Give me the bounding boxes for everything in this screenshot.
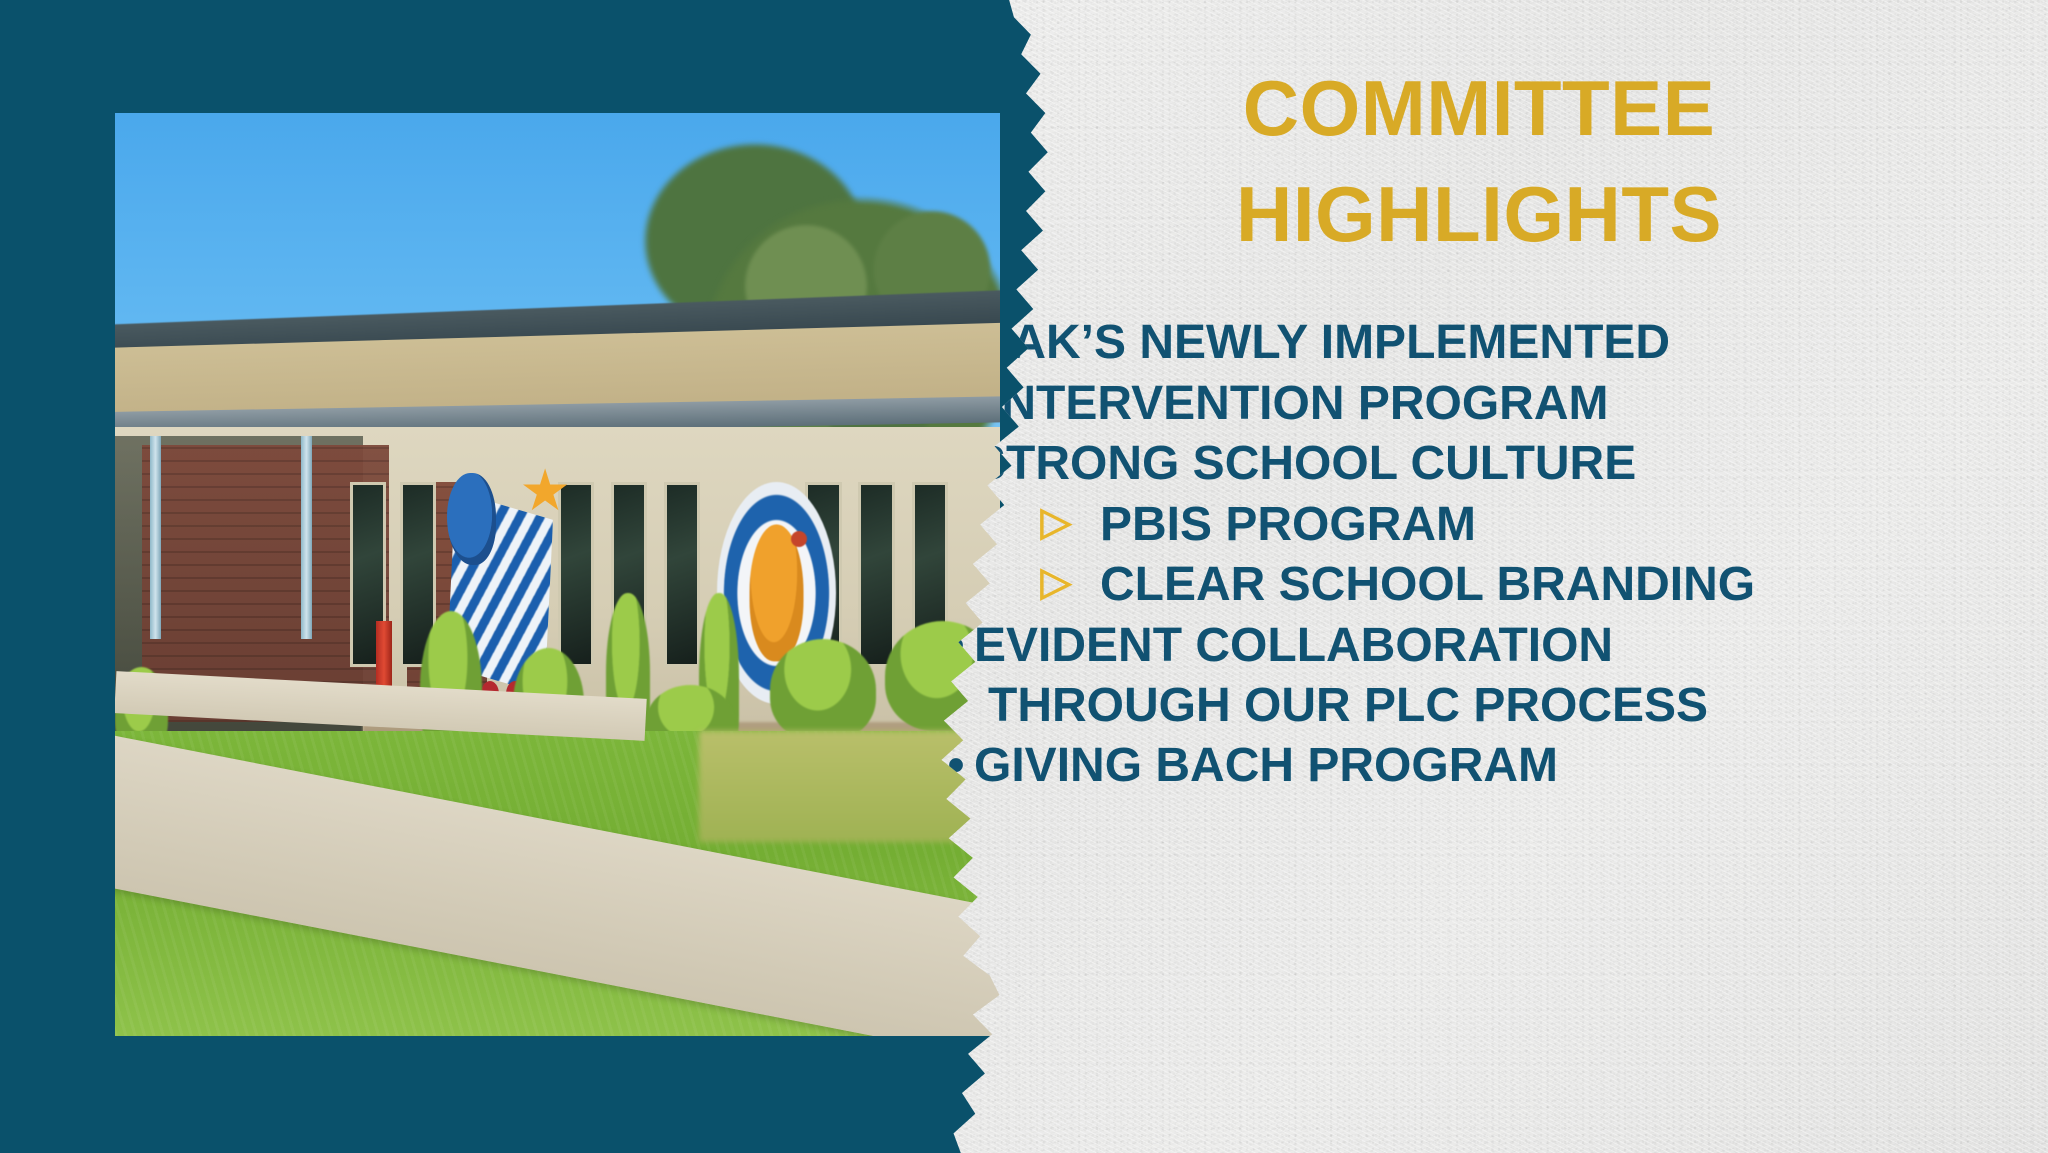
list-item-text: GIVING BACH PROGRAM	[974, 736, 1558, 796]
list-item-text: STRONG SCHOOL CULTURE	[974, 434, 1636, 494]
porch-post	[150, 436, 161, 639]
triangle-bullet-icon: ▷	[1030, 555, 1082, 610]
list-item-text: OAK’S NEWLY IMPLEMENTED INTERVENTION PRO…	[974, 313, 1670, 434]
presentation-slide: COMMITTEE HIGHLIGHTS • OAK’S NEWLY IMPLE…	[0, 0, 2048, 1153]
sub-list-item: ▷ CLEAR SCHOOL BRANDING	[870, 555, 2048, 615]
mural-figure-head	[447, 473, 496, 565]
school-building-photo	[115, 113, 1000, 1036]
seal-accent-dot	[791, 531, 807, 547]
list-item-line: CLEAR SCHOOL BRANDING	[1100, 558, 1755, 611]
porch-post	[301, 436, 312, 639]
list-item-line: OAK’S NEWLY IMPLEMENTED	[974, 316, 1670, 369]
shrub	[770, 639, 876, 741]
list-item-line: STRONG SCHOOL CULTURE	[974, 437, 1636, 490]
list-item-line: EVIDENT COLLABORATION	[974, 619, 1613, 672]
triangle-bullet-icon: ▷	[1030, 495, 1082, 550]
list-item: • EVIDENT COLLABORATION THROUGH OUR PLC …	[870, 616, 2048, 737]
list-item-line: PBIS PROGRAM	[1100, 498, 1476, 551]
sub-list-item-text: CLEAR SCHOOL BRANDING	[1082, 555, 1755, 615]
window	[664, 482, 700, 667]
list-item: • STRONG SCHOOL CULTURE	[870, 434, 2048, 494]
title-line-2: HIGHLIGHTS	[970, 161, 1988, 267]
list-item: • GIVING BACH PROGRAM	[870, 736, 2048, 796]
window	[558, 482, 594, 667]
list-item: • OAK’S NEWLY IMPLEMENTED INTERVENTION P…	[870, 313, 2048, 434]
list-item-line: THROUGH OUR PLC PROCESS	[974, 676, 1708, 736]
sub-list-item: ▷ PBIS PROGRAM	[870, 495, 2048, 555]
list-item-text: EVIDENT COLLABORATION THROUGH OUR PLC PR…	[974, 616, 1708, 737]
sub-list-item-text: PBIS PROGRAM	[1082, 495, 1476, 555]
window	[858, 482, 894, 667]
left-teal-panel	[0, 0, 1060, 1153]
title-line-1: COMMITTEE	[970, 55, 1988, 161]
list-item-line: GIVING BACH PROGRAM	[974, 739, 1558, 792]
list-item-line: INTERVENTION PROGRAM	[974, 374, 1670, 434]
